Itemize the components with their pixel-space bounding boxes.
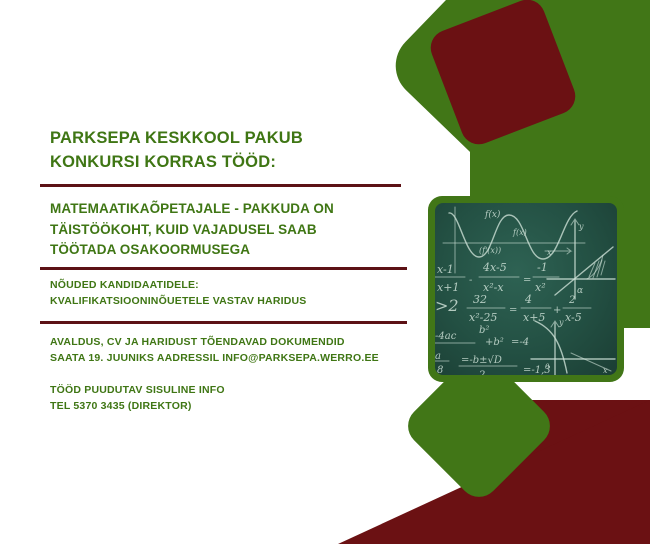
chalkboard-frame: f(x) f(x) (f'(x)) x y α x-1 x+1 - 4x — [428, 196, 624, 382]
svg-text:8: 8 — [437, 365, 443, 375]
chalkboard-image: f(x) f(x) (f'(x)) x y α x-1 x+1 - 4x — [435, 203, 617, 375]
svg-text:x²: x² — [535, 281, 546, 294]
svg-text:>2: >2 — [435, 296, 459, 315]
svg-text:x: x — [547, 248, 552, 257]
poster-canvas: f(x) f(x) (f'(x)) x y α x-1 x+1 - 4x — [0, 0, 650, 544]
svg-text:=: = — [523, 275, 531, 286]
divider-rule-1 — [40, 184, 401, 187]
svg-text:32: 32 — [473, 293, 487, 306]
divider-rule-2 — [40, 267, 407, 270]
svg-text:x-5: x-5 — [565, 311, 582, 324]
svg-text:4: 4 — [524, 293, 532, 306]
application-instructions: AVALDUS, CV JA HARIDUST TÕENDAVAD DOKUME… — [50, 334, 420, 366]
svg-text:f(x): f(x) — [484, 209, 501, 220]
svg-text:0: 0 — [545, 363, 550, 371]
svg-text:b²: b² — [479, 325, 489, 336]
svg-text:y: y — [558, 318, 564, 327]
svg-text:(f'(x)): (f'(x)) — [479, 246, 501, 255]
svg-text:2: 2 — [478, 370, 485, 375]
svg-text:+: + — [553, 305, 561, 316]
contact-information: TÖÖD PUUDUTAV SISULINE INFO TEL 5370 343… — [50, 382, 420, 414]
svg-text:x-1: x-1 — [437, 263, 454, 276]
svg-text:f(x): f(x) — [512, 228, 527, 237]
svg-text:x+1: x+1 — [437, 281, 459, 294]
svg-text:2: 2 — [568, 295, 575, 306]
svg-text:=-4: =-4 — [511, 337, 529, 348]
svg-text:+b²: +b² — [485, 337, 504, 348]
svg-text:4x-5: 4x-5 — [482, 261, 507, 274]
page-title: PARKSEPA KESKKOOL PAKUB KONKURSI KORRAS … — [50, 126, 410, 174]
svg-text:a: a — [435, 351, 441, 362]
svg-text:-1: -1 — [537, 261, 548, 274]
position-description: MATEMAATIKAÕPETAJALE - PAKKUDA ON TÄISTÖ… — [50, 199, 420, 261]
svg-text:x: x — [603, 366, 608, 375]
svg-text:x+5: x+5 — [523, 311, 545, 324]
svg-text:y: y — [578, 222, 584, 231]
requirements-section: NÕUDED KANDIDAATIDELE: KVALIFIKATSIOONIN… — [50, 277, 420, 309]
svg-text:α: α — [577, 286, 583, 296]
divider-rule-3 — [40, 321, 407, 324]
svg-text:=: = — [509, 305, 517, 316]
svg-text:-4ac: -4ac — [435, 331, 457, 342]
svg-text:x²-25: x²-25 — [469, 311, 497, 324]
svg-text:-: - — [469, 275, 473, 286]
svg-text:=-b±√D: =-b±√D — [461, 355, 502, 366]
